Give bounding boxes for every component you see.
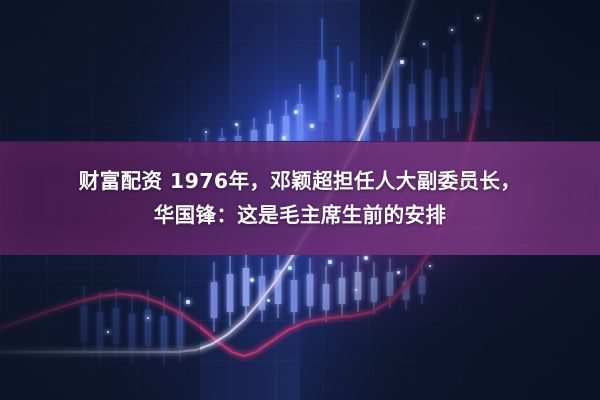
sparkle-dot <box>235 123 238 126</box>
vignette-bottom-left <box>0 270 200 400</box>
sparkle-dot <box>186 300 189 303</box>
title-line-1: 财富配资 1976年，邓颖超担任人大副委员长， <box>79 164 521 198</box>
sparkle-dot <box>310 124 313 127</box>
sparkle-dot <box>397 271 400 274</box>
sparkle-dot <box>282 136 286 140</box>
sparkle-dot <box>288 266 292 270</box>
sparkle-dot <box>267 299 270 302</box>
sparkle-dot <box>400 60 403 63</box>
title-overlay-band: 财富配资 1976年，邓颖超担任人大副委员长， 华国锋：这是毛主席生前的安排 <box>0 141 600 255</box>
banner-image: 财富配资 1976年，邓颖超担任人大副委员长， 华国锋：这是毛主席生前的安排 <box>0 0 600 400</box>
sparkle-dot <box>328 260 331 263</box>
vignette-top-left <box>0 0 230 150</box>
vignette-bottom-right <box>300 235 600 400</box>
sparkle-dot <box>364 256 368 260</box>
title-line-2: 华国锋：这是毛主席生前的安排 <box>154 198 447 232</box>
